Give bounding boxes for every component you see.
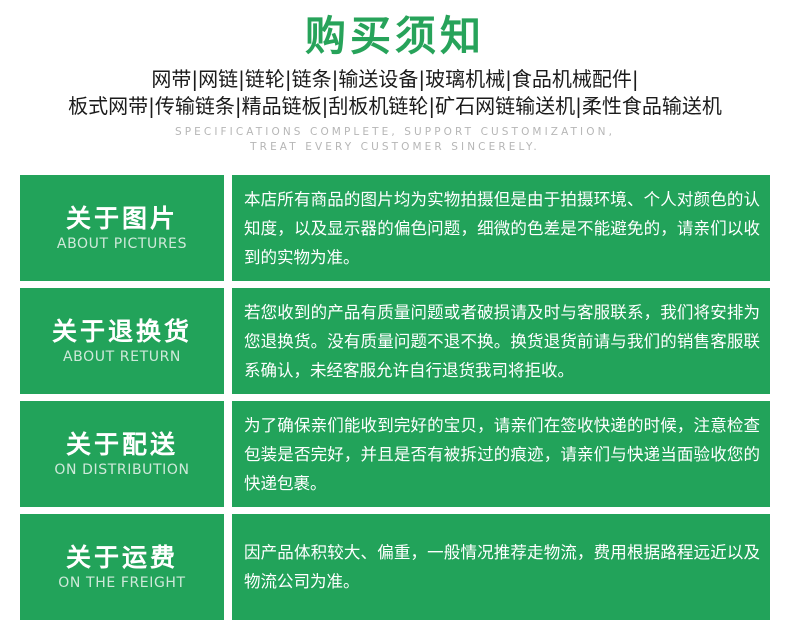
notice-label-cn: 关于配送 — [66, 429, 178, 460]
notice-card-label-distribution: 关于配送 ON DISTRIBUTION — [20, 401, 224, 507]
notice-body-text: 因产品体积较大、偏重，一般情况推荐走物流，费用根据路程远近以及物流公司为准。 — [244, 538, 760, 596]
notice-label-en: ON THE FREIGHT — [58, 574, 185, 593]
notice-card-distribution: 关于配送 ON DISTRIBUTION 为了确保亲们能收到完好的宝贝，请亲们在… — [20, 401, 770, 507]
card-divider — [224, 175, 232, 281]
notice-body-text: 若您收到的产品有质量问题或者破损请及时与客服联系，我们将安排为您退换货。没有质量… — [244, 298, 760, 385]
notice-label-en: ABOUT PICTURES — [57, 235, 187, 254]
notice-body-text: 本店所有商品的图片均为实物拍摄但是由于拍摄环境、个人对颜色的认知度，以及显示器的… — [244, 185, 760, 272]
card-divider — [224, 514, 232, 620]
purchase-notice-page: 购买须知 网带|网链|链轮|链条|输送设备|玻璃机械|食品机械配件| 板式网带|… — [0, 0, 790, 626]
notice-card-body-freight: 因产品体积较大、偏重，一般情况推荐走物流，费用根据路程远近以及物流公司为准。 — [232, 514, 770, 620]
english-slogan-line-2: TREAT EVERY CUSTOMER SINCERELY. — [0, 140, 790, 155]
page-title: 购买须知 — [0, 8, 790, 66]
notice-label-cn: 关于退换货 — [52, 316, 192, 347]
notice-card-return: 关于退换货 ABOUT RETURN 若您收到的产品有质量问题或者破损请及时与客… — [20, 288, 770, 394]
english-slogan-line-1: SPECIFICATIONS COMPLETE, SUPPORT CUSTOMI… — [0, 125, 790, 140]
notice-card-body-return: 若您收到的产品有质量问题或者破损请及时与客服联系，我们将安排为您退换货。没有质量… — [232, 288, 770, 394]
page-header: 购买须知 网带|网链|链轮|链条|输送设备|玻璃机械|食品机械配件| 板式网带|… — [0, 0, 790, 155]
product-category-line-1: 网带|网链|链轮|链条|输送设备|玻璃机械|食品机械配件| — [0, 66, 790, 93]
card-divider — [224, 401, 232, 507]
card-divider — [224, 288, 232, 394]
notice-label-cn: 关于图片 — [66, 203, 178, 234]
notice-card-body-distribution: 为了确保亲们能收到完好的宝贝，请亲们在签收快递的时候，注意检查包装是否完好，并且… — [232, 401, 770, 507]
english-slogan: SPECIFICATIONS COMPLETE, SUPPORT CUSTOMI… — [0, 125, 790, 155]
notice-card-freight: 关于运费 ON THE FREIGHT 因产品体积较大、偏重，一般情况推荐走物流… — [20, 514, 770, 620]
notice-card-label-return: 关于退换货 ABOUT RETURN — [20, 288, 224, 394]
notice-label-en: ABOUT RETURN — [63, 348, 181, 367]
notice-label-cn: 关于运费 — [66, 542, 178, 573]
notice-card-pictures: 关于图片 ABOUT PICTURES 本店所有商品的图片均为实物拍摄但是由于拍… — [20, 175, 770, 281]
notice-card-label-freight: 关于运费 ON THE FREIGHT — [20, 514, 224, 620]
notice-card-list: 关于图片 ABOUT PICTURES 本店所有商品的图片均为实物拍摄但是由于拍… — [20, 175, 770, 620]
notice-card-body-pictures: 本店所有商品的图片均为实物拍摄但是由于拍摄环境、个人对颜色的认知度，以及显示器的… — [232, 175, 770, 281]
notice-card-label-pictures: 关于图片 ABOUT PICTURES — [20, 175, 224, 281]
product-category-line-2: 板式网带|传输链条|精品链板|刮板机链轮|矿石网链输送机|柔性食品输送机 — [0, 93, 790, 120]
notice-label-en: ON DISTRIBUTION — [54, 461, 189, 480]
notice-body-text: 为了确保亲们能收到完好的宝贝，请亲们在签收快递的时候，注意检查包装是否完好，并且… — [244, 411, 760, 498]
